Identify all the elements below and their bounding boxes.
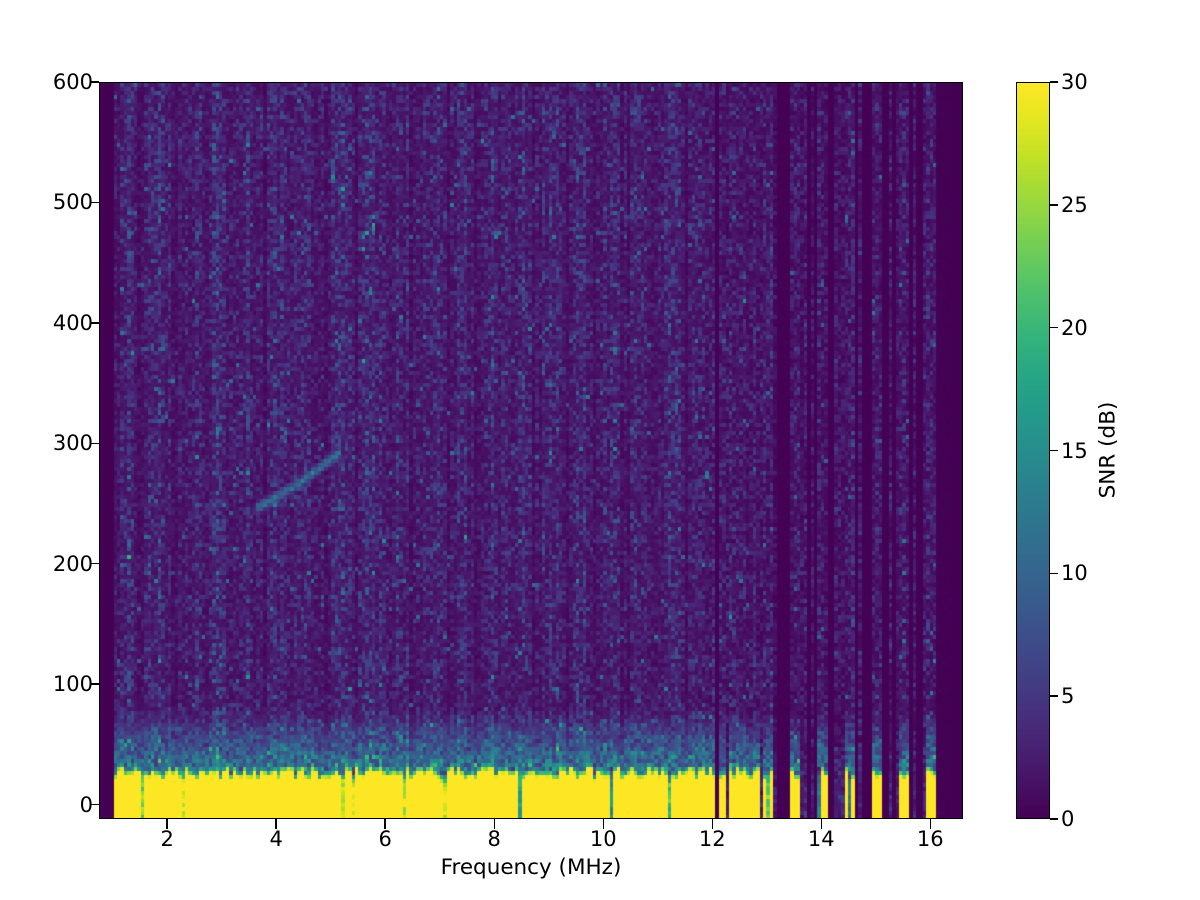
colorbar-tick-label: 5 (1061, 684, 1074, 708)
x-axis-label: Frequency (MHz) (441, 855, 622, 880)
x-tick-label: 16 (917, 827, 944, 851)
y-tick-mark (90, 804, 100, 805)
y-tick-mark (90, 563, 100, 564)
x-tick-mark (712, 819, 713, 829)
colorbar-tick-mark (1050, 450, 1058, 451)
x-tick-mark (494, 819, 495, 829)
colorbar-tick-label: 25 (1061, 193, 1088, 217)
x-tick-mark (821, 819, 822, 829)
colorbar-tick-label: 0 (1061, 807, 1074, 831)
x-tick-mark (930, 819, 931, 829)
colorbar-label: SNR (dB) (1096, 402, 1121, 499)
x-tick-label: 4 (269, 827, 282, 851)
y-tick-label: 500 (53, 190, 93, 214)
colorbar-gradient (1017, 83, 1049, 818)
x-tick-label: 12 (699, 827, 726, 851)
colorbar-tick-label: 20 (1061, 316, 1088, 340)
y-tick-label: 200 (53, 552, 93, 576)
y-tick-label: 100 (53, 672, 93, 696)
colorbar-tick-label: 10 (1061, 561, 1088, 585)
y-tick-mark (90, 81, 100, 82)
x-tick-label: 14 (808, 827, 835, 851)
x-tick-label: 2 (160, 827, 173, 851)
colorbar (1016, 82, 1050, 819)
y-tick-mark (90, 202, 100, 203)
ionogram-figure: IRF Kiruna Ionosonde KI167 2025-11-14 09… (0, 0, 1200, 900)
colorbar-tick-label: 15 (1061, 439, 1088, 463)
x-tick-mark (166, 819, 167, 829)
y-tick-mark (90, 322, 100, 323)
colorbar-tick-mark (1050, 573, 1058, 574)
x-tick-mark (384, 819, 385, 829)
y-tick-label: 600 (53, 70, 93, 94)
colorbar-tick-mark (1050, 695, 1058, 696)
ionogram-plot-area (99, 82, 963, 819)
colorbar-tick-mark (1050, 204, 1058, 205)
y-tick-label: 300 (53, 431, 93, 455)
ionogram-heatmap (100, 83, 963, 819)
colorbar-tick-mark (1050, 81, 1058, 82)
x-tick-mark (275, 819, 276, 829)
colorbar-tick-label: 30 (1061, 70, 1088, 94)
x-tick-label: 10 (590, 827, 617, 851)
y-tick-mark (90, 683, 100, 684)
y-tick-mark (90, 443, 100, 444)
colorbar-tick-mark (1050, 818, 1058, 819)
y-tick-label: 400 (53, 311, 93, 335)
x-tick-label: 6 (378, 827, 391, 851)
colorbar-tick-mark (1050, 327, 1058, 328)
x-tick-label: 8 (488, 827, 501, 851)
x-tick-mark (603, 819, 604, 829)
